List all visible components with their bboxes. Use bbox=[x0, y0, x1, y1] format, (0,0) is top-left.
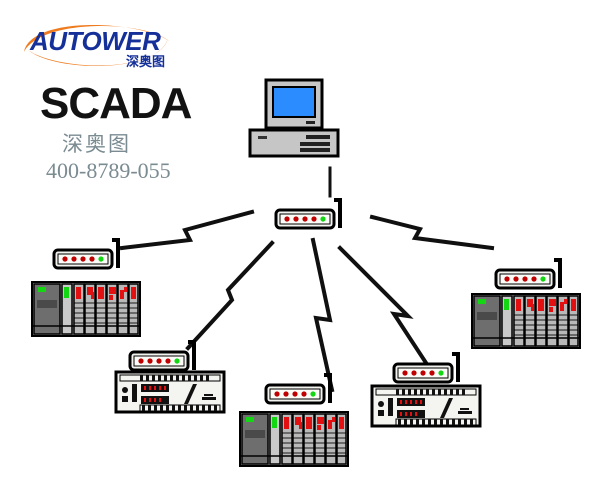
led-indicator bbox=[411, 370, 416, 375]
led-indicator bbox=[311, 216, 316, 221]
router-artwork bbox=[272, 198, 350, 240]
led-indicator bbox=[138, 358, 143, 363]
scada-diagram-canvas: AUTOWER 深奥图 SCADA 深奥图 400-8789-055 bbox=[0, 0, 600, 480]
plc-left[interactable] bbox=[30, 278, 138, 336]
led-indicator bbox=[62, 256, 67, 261]
led-indicator bbox=[504, 276, 509, 281]
led-indicator bbox=[284, 216, 289, 221]
led-indicator bbox=[80, 256, 85, 261]
rtu-artwork bbox=[114, 368, 226, 416]
led-indicator bbox=[292, 391, 297, 396]
led-indicator bbox=[420, 370, 425, 375]
led-indicator bbox=[429, 370, 434, 375]
link-center-to-lower-left bbox=[188, 243, 272, 348]
led-indicator bbox=[293, 216, 298, 221]
router-lower-center[interactable] bbox=[262, 373, 340, 413]
link-center-to-left bbox=[122, 212, 252, 248]
led-indicator bbox=[310, 391, 315, 396]
power-led bbox=[38, 287, 46, 292]
led-indicator bbox=[156, 358, 161, 363]
led-indicator bbox=[174, 358, 179, 363]
power-led bbox=[478, 299, 486, 304]
link-center-to-right bbox=[372, 217, 492, 248]
scada-host-pc[interactable] bbox=[248, 78, 340, 166]
led-indicator bbox=[165, 358, 170, 363]
led-indicator bbox=[89, 256, 94, 261]
plc-artwork bbox=[30, 278, 142, 340]
pc-screen bbox=[273, 87, 315, 117]
router-artwork bbox=[50, 238, 128, 280]
plc-bottom-center[interactable] bbox=[238, 408, 346, 466]
led-indicator bbox=[274, 391, 279, 396]
power-led bbox=[246, 417, 254, 422]
rtu-artwork bbox=[370, 382, 482, 430]
led-indicator bbox=[522, 276, 527, 281]
link-center-to-lower-center bbox=[313, 240, 332, 390]
led-indicator bbox=[402, 370, 407, 375]
led-indicator bbox=[540, 276, 545, 281]
led-indicator bbox=[513, 276, 518, 281]
led-indicator bbox=[147, 358, 152, 363]
plc-artwork bbox=[470, 290, 582, 352]
rtu-lower-left[interactable] bbox=[114, 368, 222, 412]
led-indicator bbox=[302, 216, 307, 221]
led-indicator bbox=[283, 391, 288, 396]
led-indicator bbox=[531, 276, 536, 281]
led-indicator bbox=[438, 370, 443, 375]
rtu-lower-right[interactable] bbox=[370, 382, 478, 426]
router-center[interactable] bbox=[272, 198, 350, 238]
led-indicator bbox=[320, 216, 325, 221]
led-indicator bbox=[301, 391, 306, 396]
pc-artwork bbox=[248, 78, 340, 166]
router-left[interactable] bbox=[50, 238, 128, 278]
plc-right[interactable] bbox=[470, 290, 578, 348]
led-indicator bbox=[98, 256, 103, 261]
led-indicator bbox=[71, 256, 76, 261]
plc-artwork bbox=[238, 408, 350, 470]
